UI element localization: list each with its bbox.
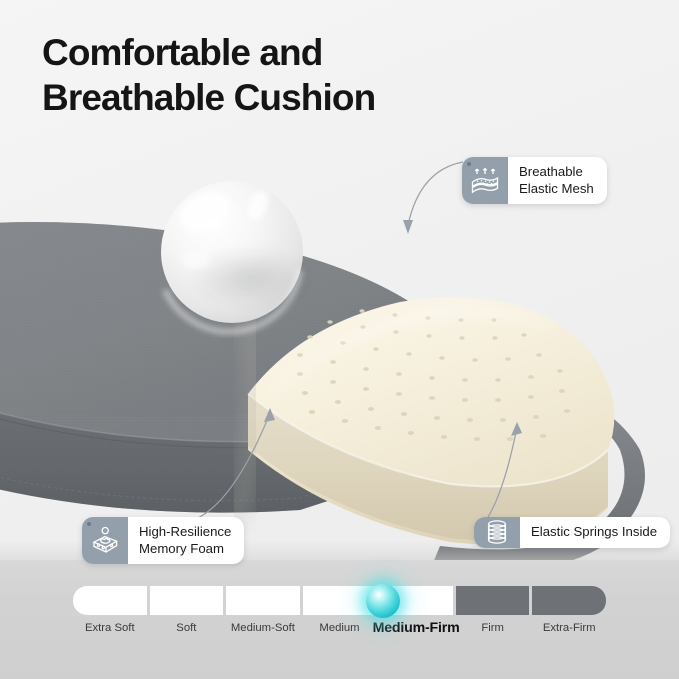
- marketing-image: Comfortable and Breathable Cushion: [0, 0, 679, 679]
- callout-foam-line-1: High-Resilience: [139, 524, 231, 541]
- firmness-label-soft: Soft: [176, 622, 196, 634]
- pressure-test-ball: [161, 181, 312, 332]
- firmness-label-medium: Medium: [319, 622, 359, 634]
- callout-mesh-text: Breathable Elastic Mesh: [508, 157, 607, 204]
- callout-breathable-mesh: Breathable Elastic Mesh: [462, 157, 607, 204]
- firmness-segment-extra-soft[interactable]: [73, 586, 147, 615]
- coil-spring-icon: [474, 517, 520, 548]
- firmness-label-firm: Firm: [481, 622, 504, 634]
- firmness-segment-soft[interactable]: [150, 586, 224, 615]
- title-line-1: Comfortable and: [42, 30, 562, 75]
- firmness-label-extra-soft: Extra Soft: [85, 622, 135, 634]
- callout-anchor-dot: [467, 162, 471, 166]
- callout-mesh-line-1: Breathable: [519, 164, 594, 181]
- breathable-mesh-icon: [462, 157, 508, 204]
- firmness-segment-medium[interactable]: [303, 586, 377, 615]
- firmness-scale[interactable]: Extra SoftSoftMedium-SoftMediumMedium-Fi…: [0, 586, 679, 648]
- firmness-segment-firm[interactable]: [456, 586, 530, 615]
- title-line-2: Breathable Cushion: [42, 75, 562, 120]
- memory-foam-icon: [82, 517, 128, 564]
- callout-foam-line-2: Memory Foam: [139, 541, 231, 558]
- callout-elastic-springs: Elastic Springs Inside: [474, 517, 670, 548]
- firmness-scale-track[interactable]: [73, 586, 606, 615]
- firmness-label-medium-firm: Medium-Firm: [373, 620, 460, 636]
- firmness-segment-medium-soft[interactable]: [226, 586, 300, 615]
- callout-foam-text: High-Resilience Memory Foam: [128, 517, 244, 564]
- firmness-segment-extra-firm[interactable]: [532, 586, 606, 615]
- callout-spring-line-1: Elastic Springs Inside: [531, 524, 657, 541]
- cushion-product-image: [0, 150, 679, 580]
- firmness-scale-labels: Extra SoftSoftMedium-SoftMediumMedium-Fi…: [0, 622, 679, 644]
- firmness-label-extra-firm: Extra-Firm: [543, 622, 596, 634]
- firmness-selected-marker[interactable]: [366, 584, 400, 618]
- callout-anchor-dot: [87, 522, 91, 526]
- callout-memory-foam: High-Resilience Memory Foam: [82, 517, 244, 564]
- page-title: Comfortable and Breathable Cushion: [42, 30, 562, 120]
- firmness-label-medium-soft: Medium-Soft: [231, 622, 295, 634]
- callout-spring-text: Elastic Springs Inside: [520, 517, 670, 548]
- callout-mesh-line-2: Elastic Mesh: [519, 181, 594, 198]
